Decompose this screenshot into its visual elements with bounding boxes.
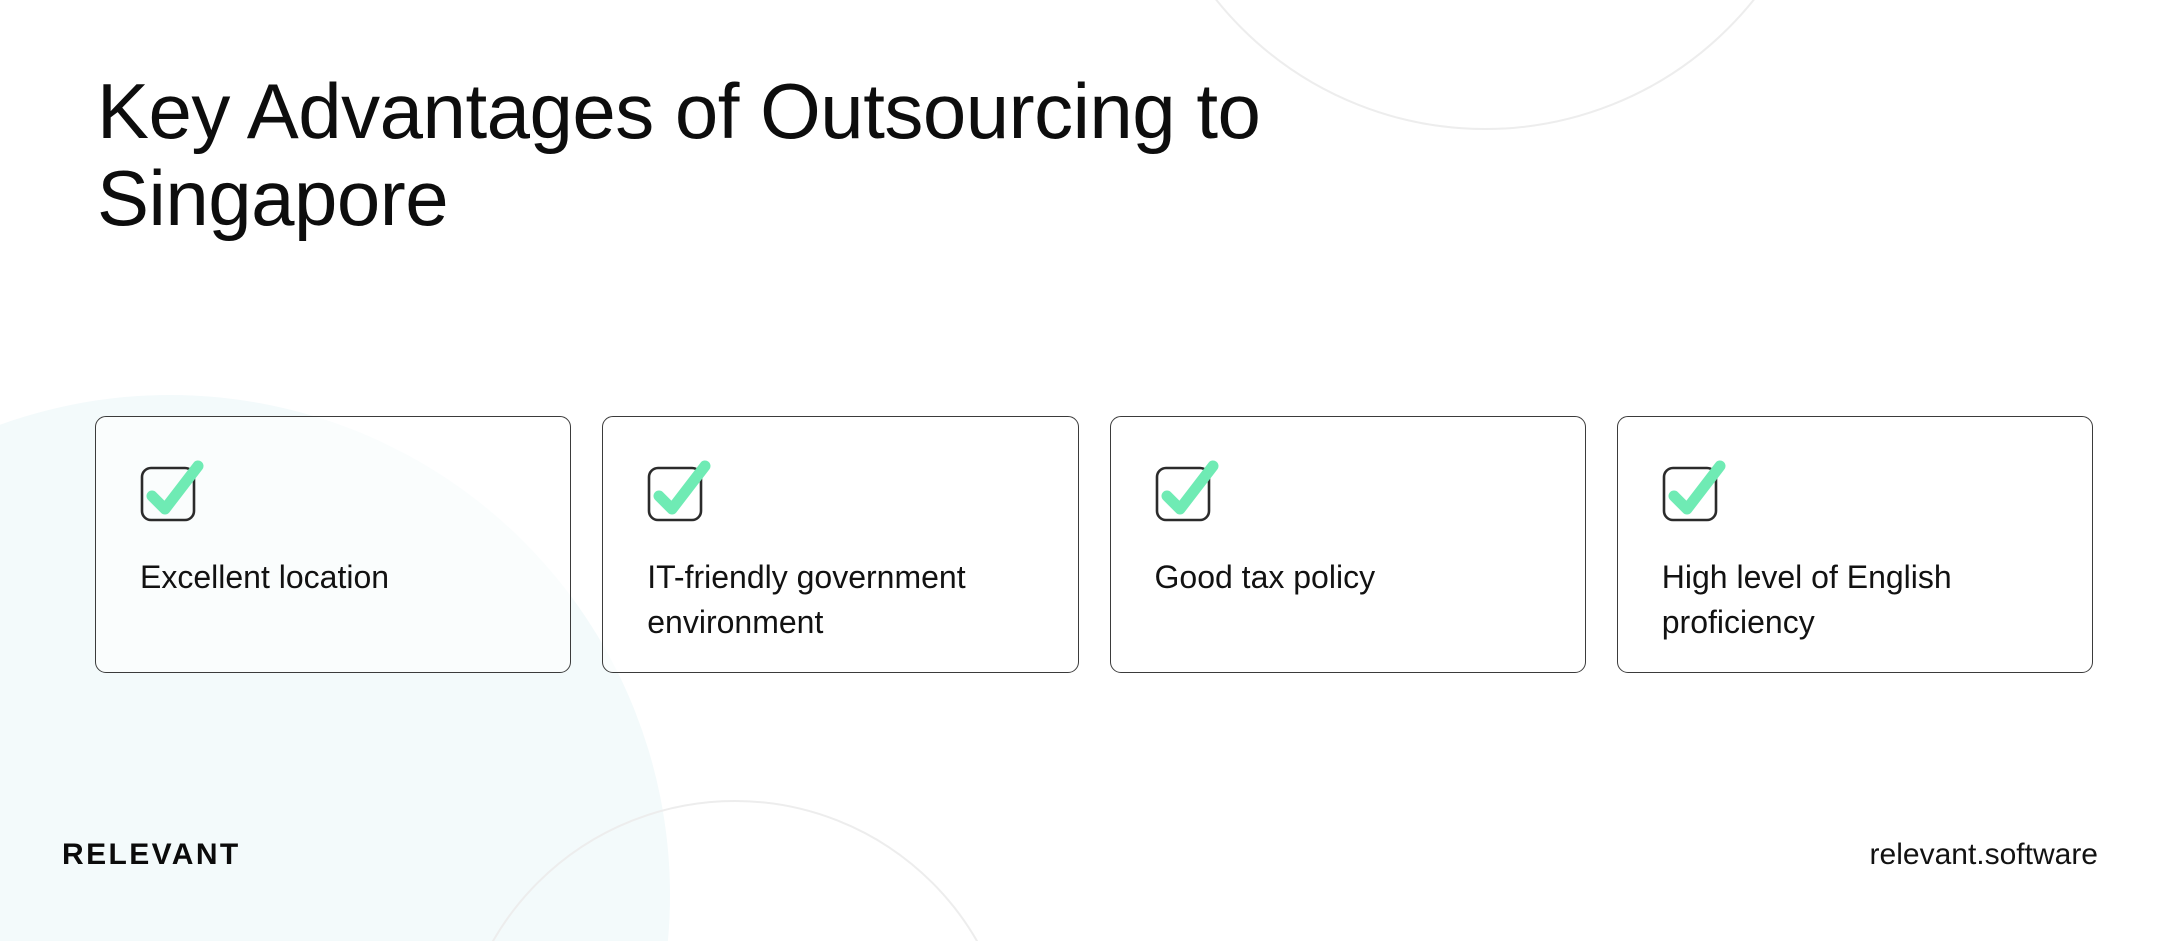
checkbox-checked-icon xyxy=(647,464,699,516)
advantage-card[interactable]: Good tax policy xyxy=(1110,416,1586,673)
brand-logo: RELEVANT xyxy=(62,838,241,872)
checkbox-checked-icon xyxy=(140,464,192,516)
checkbox-checked-icon xyxy=(1662,464,1714,516)
checkbox-checked-icon xyxy=(1155,464,1207,516)
advantage-card-label: IT-friendly government environment xyxy=(647,555,1053,646)
advantages-card-row: Excellent location IT-friendly governmen… xyxy=(95,416,2093,673)
advantage-card[interactable]: Excellent location xyxy=(95,416,571,673)
advantage-card[interactable]: IT-friendly government environment xyxy=(602,416,1078,673)
slide-root: Key Advantages of Outsourcing to Singapo… xyxy=(0,0,2160,941)
advantage-card-label: Good tax policy xyxy=(1155,555,1561,600)
page-title: Key Advantages of Outsourcing to Singapo… xyxy=(97,68,1777,243)
advantage-card-label: High level of English proficiency xyxy=(1662,555,2068,646)
advantage-card[interactable]: High level of English proficiency xyxy=(1617,416,2093,673)
advantage-card-label: Excellent location xyxy=(140,555,546,600)
footer-website-url[interactable]: relevant.software xyxy=(1870,838,2098,872)
